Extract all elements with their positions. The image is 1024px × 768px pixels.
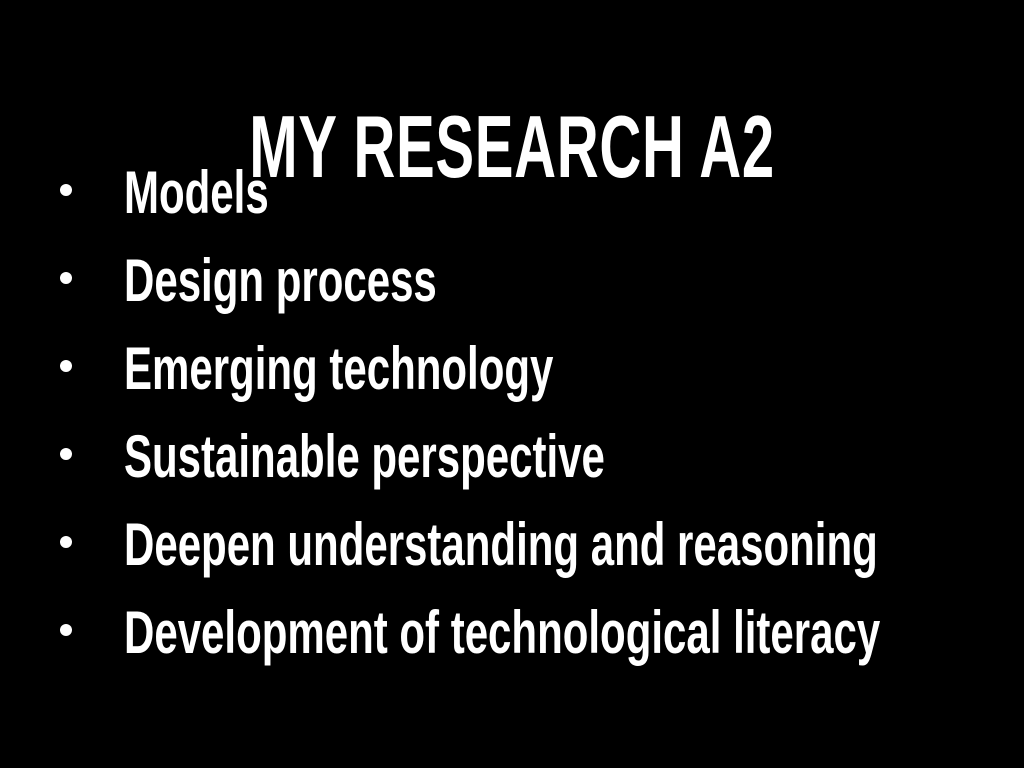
list-item: Emerging technology — [0, 334, 1024, 422]
bullet-dot-icon — [60, 360, 72, 372]
list-item: Development of technological literacy — [0, 598, 1024, 686]
presentation-slide: MY RESEARCH A2 Models Design process Eme… — [0, 0, 1024, 768]
list-item: Design process — [0, 246, 1024, 334]
bullet-item-label: Development of technological literacy — [124, 598, 880, 686]
bullet-dot-icon — [60, 624, 72, 636]
bullet-dot-icon — [60, 448, 72, 460]
bullet-dot-icon — [60, 536, 72, 548]
list-item: Sustainable perspective — [0, 422, 1024, 510]
bullet-item-label: Sustainable perspective — [124, 422, 605, 510]
list-item: Models — [0, 158, 1024, 246]
bullet-list: Models Design process Emerging technolog… — [0, 158, 1024, 686]
list-item: Deepen understanding and reasoning — [0, 510, 1024, 598]
bullet-item-label: Deepen understanding and reasoning — [124, 510, 878, 598]
bullet-item-label: Design process — [124, 246, 437, 334]
bullet-dot-icon — [60, 272, 72, 284]
bullet-dot-icon — [60, 184, 72, 196]
bullet-item-label: Emerging technology — [124, 334, 553, 422]
bullet-item-label: Models — [124, 158, 269, 246]
